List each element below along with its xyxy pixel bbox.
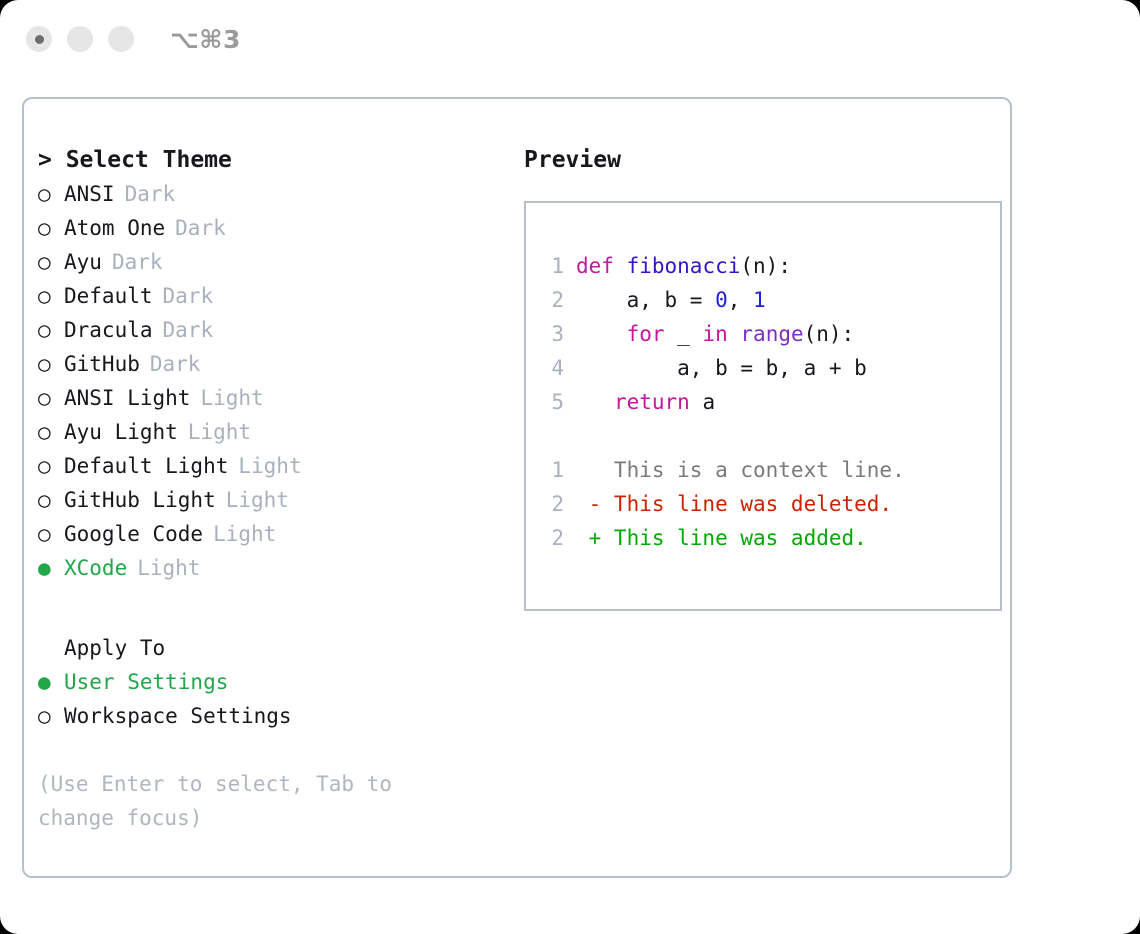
code-line: 3 for _ in range(n): <box>544 317 1000 351</box>
theme-selector-pane: > Select Theme ○ANSIDark○Atom OneDark○Ay… <box>38 143 508 876</box>
code-token-plain <box>614 254 627 278</box>
window-dot-minimize-icon[interactable] <box>67 26 93 52</box>
theme-option-label: ANSI <box>64 177 115 211</box>
window-dot-inner <box>35 35 44 44</box>
radio-unselected-icon: ○ <box>38 279 64 313</box>
main-panel: > Select Theme ○ANSIDark○Atom OneDark○Ay… <box>22 97 1012 878</box>
radio-unselected-icon: ○ <box>38 245 64 279</box>
preview-pane: Preview 1def fibonacci(n):2 a, b = 0, 13… <box>508 143 1010 876</box>
theme-variant-badge: Light <box>226 483 289 517</box>
radio-unselected-icon: ○ <box>38 381 64 415</box>
apply-to-option-user-settings[interactable]: ●User Settings <box>38 665 508 699</box>
theme-option-label: Ayu Light <box>64 415 178 449</box>
radio-selected-icon: ● <box>38 551 64 585</box>
radio-unselected-icon: ○ <box>38 211 64 245</box>
line-number: 2 <box>544 521 564 555</box>
line-number: 2 <box>544 283 564 317</box>
theme-variant-badge: Light <box>238 449 301 483</box>
radio-unselected-icon: ○ <box>38 415 64 449</box>
diff-sample: 1 This is a context line.2 - This line w… <box>544 453 1000 555</box>
spacer <box>38 733 508 767</box>
code-line: 5 return a <box>544 385 1000 419</box>
theme-option-ansi[interactable]: ○ANSIDark <box>38 177 508 211</box>
theme-option-label: GitHub <box>64 347 140 381</box>
code-token-kw: def <box>576 254 614 278</box>
theme-option-label: GitHub Light <box>64 483 216 517</box>
preview-box: 1def fibonacci(n):2 a, b = 0, 13 for _ i… <box>524 201 1002 611</box>
select-theme-heading: > Select Theme <box>38 143 508 177</box>
radio-unselected-icon: ○ <box>38 347 64 381</box>
window-dot-close-icon[interactable] <box>26 26 52 52</box>
apply-to-option-label: Workspace Settings <box>64 699 292 733</box>
line-number: 1 <box>544 249 564 283</box>
code-token-kw: return <box>614 390 690 414</box>
radio-unselected-icon: ○ <box>38 177 64 211</box>
theme-option-github-light[interactable]: ○GitHub LightLight <box>38 483 508 517</box>
code-token-plain: a, b = <box>576 288 715 312</box>
code-token-plain <box>728 322 741 346</box>
apply-to-option-label: User Settings <box>64 665 228 699</box>
code-token-kw: for <box>627 322 665 346</box>
theme-variant-badge: Light <box>188 415 251 449</box>
code-token-plain <box>576 390 614 414</box>
theme-option-github[interactable]: ○GitHubDark <box>38 347 508 381</box>
theme-option-label: Google Code <box>64 517 203 551</box>
code-token-plain: (n): <box>804 322 855 346</box>
code-line: 2 a, b = 0, 1 <box>544 283 1000 317</box>
code-token-plain: (n): <box>740 254 791 278</box>
theme-option-default[interactable]: ○DefaultDark <box>38 279 508 313</box>
code-line: 1 This is a context line. <box>544 453 1000 487</box>
theme-option-ayu[interactable]: ○AyuDark <box>38 245 508 279</box>
code-token-kw: in <box>702 322 727 346</box>
radio-unselected-icon: ○ <box>38 483 64 517</box>
theme-option-google-code[interactable]: ○Google CodeLight <box>38 517 508 551</box>
title-bar: ⌥⌘3 <box>0 0 1140 78</box>
radio-unselected-icon: ○ <box>38 313 64 347</box>
theme-option-label: Dracula <box>64 313 153 347</box>
window-controls <box>26 26 134 52</box>
code-token-add: + This line was added. <box>576 526 867 550</box>
theme-option-label: Default Light <box>64 449 228 483</box>
theme-option-label: ANSI Light <box>64 381 190 415</box>
line-number: 1 <box>544 453 564 487</box>
theme-list: ○ANSIDark○Atom OneDark○AyuDark○DefaultDa… <box>38 177 508 585</box>
preview-heading: Preview <box>524 143 1010 177</box>
theme-option-label: Ayu <box>64 245 102 279</box>
theme-variant-badge: Dark <box>163 313 214 347</box>
radio-unselected-icon: ○ <box>38 449 64 483</box>
code-token-num: 1 <box>753 288 766 312</box>
theme-option-dracula[interactable]: ○DraculaDark <box>38 313 508 347</box>
theme-variant-badge: Dark <box>163 279 214 313</box>
code-token-del: - This line was deleted. <box>576 492 892 516</box>
app-window: ⌥⌘3 > Select Theme ○ANSIDark○Atom OneDar… <box>0 0 1140 934</box>
line-number: 5 <box>544 385 564 419</box>
theme-variant-badge: Dark <box>125 177 176 211</box>
line-number: 4 <box>544 351 564 385</box>
theme-option-label: XCode <box>64 551 127 585</box>
keyboard-shortcut-label: ⌥⌘3 <box>170 25 241 54</box>
code-line: 4 a, b = b, a + b <box>544 351 1000 385</box>
theme-variant-badge: Light <box>213 517 276 551</box>
theme-variant-badge: Light <box>200 381 263 415</box>
theme-variant-badge: Dark <box>150 347 201 381</box>
keyboard-hint-text: (Use Enter to select, Tab to change focu… <box>38 767 458 835</box>
theme-option-label: Atom One <box>64 211 165 245</box>
theme-option-ansi-light[interactable]: ○ANSI LightLight <box>38 381 508 415</box>
code-token-call: range <box>740 322 803 346</box>
radio-unselected-icon: ○ <box>38 517 64 551</box>
code-line: 2 + This line was added. <box>544 521 1000 555</box>
theme-option-ayu-light[interactable]: ○Ayu LightLight <box>38 415 508 449</box>
line-number: 3 <box>544 317 564 351</box>
radio-selected-icon: ● <box>38 665 64 699</box>
theme-option-xcode[interactable]: ●XCodeLight <box>38 551 508 585</box>
code-token-ctx: This is a context line. <box>576 458 905 482</box>
apply-to-label: Apply To <box>38 631 508 665</box>
line-number: 2 <box>544 487 564 521</box>
code-token-plain: a, b = b, a + b <box>576 356 867 380</box>
code-sample: 1def fibonacci(n):2 a, b = 0, 13 for _ i… <box>544 249 1000 419</box>
theme-option-default-light[interactable]: ○Default LightLight <box>38 449 508 483</box>
apply-to-option-workspace-settings[interactable]: ○Workspace Settings <box>38 699 508 733</box>
apply-to-list: ●User Settings○Workspace Settings <box>38 665 508 733</box>
code-token-num: 0 <box>715 288 728 312</box>
code-token-plain: , <box>728 288 753 312</box>
theme-option-label: Default <box>64 279 153 313</box>
theme-variant-badge: Light <box>137 551 200 585</box>
theme-variant-badge: Dark <box>112 245 163 279</box>
code-token-plain <box>576 322 627 346</box>
spacer <box>38 585 508 631</box>
code-token-plain: a <box>690 390 715 414</box>
theme-option-atom-one[interactable]: ○Atom OneDark <box>38 211 508 245</box>
code-token-fn: fibonacci <box>627 254 741 278</box>
radio-unselected-icon: ○ <box>38 699 64 733</box>
code-line: 1def fibonacci(n): <box>544 249 1000 283</box>
code-line: 2 - This line was deleted. <box>544 487 1000 521</box>
theme-variant-badge: Dark <box>175 211 226 245</box>
window-dot-maximize-icon[interactable] <box>108 26 134 52</box>
code-token-plain: _ <box>665 322 703 346</box>
spacer <box>544 419 1000 453</box>
